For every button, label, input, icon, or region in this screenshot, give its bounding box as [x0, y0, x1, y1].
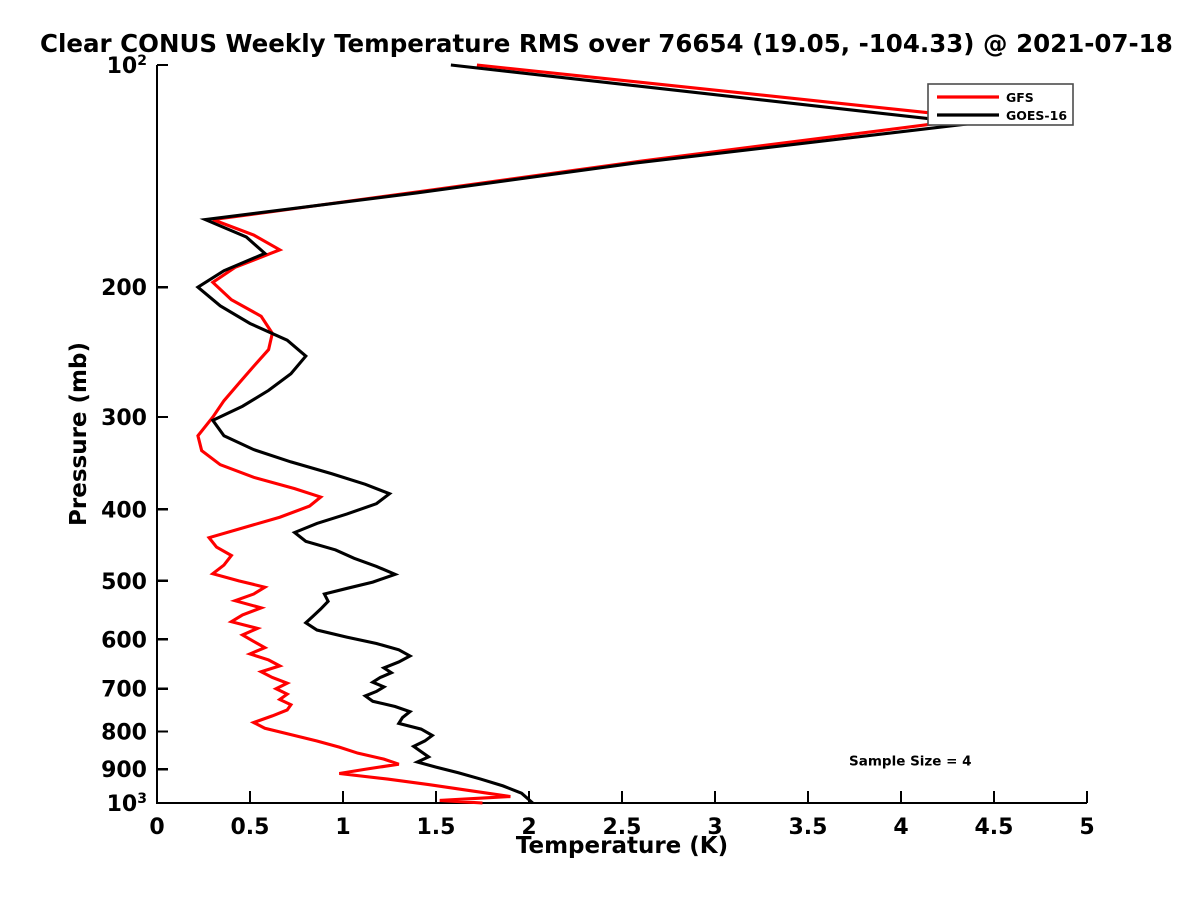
x-axis-label: Temperature (K): [516, 833, 728, 859]
chart-figure: Clear CONUS Weekly Temperature RMS over …: [0, 0, 1200, 900]
chart-legend[interactable]: GFSGOES-16: [928, 84, 1073, 125]
sample-size-annotation: Sample Size = 4: [849, 754, 972, 770]
y-tick-label: 300: [101, 406, 147, 431]
x-tick-label: 0.5: [231, 815, 270, 840]
legend-label-goes-16: GOES-16: [1006, 108, 1067, 123]
y-axis-label: Pressure (mb): [66, 342, 92, 526]
y-tick-label: 500: [101, 570, 147, 595]
y-tick-label: 900: [101, 758, 147, 783]
y-tick-label: 600: [101, 628, 147, 653]
x-tick-label: 3.5: [789, 815, 828, 840]
x-tick-label: 4: [893, 815, 908, 840]
plot-annotations: Sample Size = 4: [849, 754, 972, 770]
legend-label-gfs: GFS: [1006, 90, 1034, 105]
figure-background: [0, 0, 1200, 900]
x-tick-label: 4.5: [975, 815, 1014, 840]
y-tick-label: 700: [101, 678, 147, 703]
y-tick-label: 200: [101, 276, 147, 301]
chart-title: Clear CONUS Weekly Temperature RMS over …: [40, 29, 1173, 58]
x-tick-label: 5: [1079, 815, 1094, 840]
x-tick-label: 1: [335, 815, 350, 840]
x-tick-label: 1.5: [417, 815, 456, 840]
y-tick-label: 400: [101, 498, 147, 523]
x-tick-label: 0: [149, 815, 164, 840]
temperature-rms-profile-chart: Clear CONUS Weekly Temperature RMS over …: [0, 0, 1200, 900]
y-tick-label: 800: [101, 720, 147, 745]
